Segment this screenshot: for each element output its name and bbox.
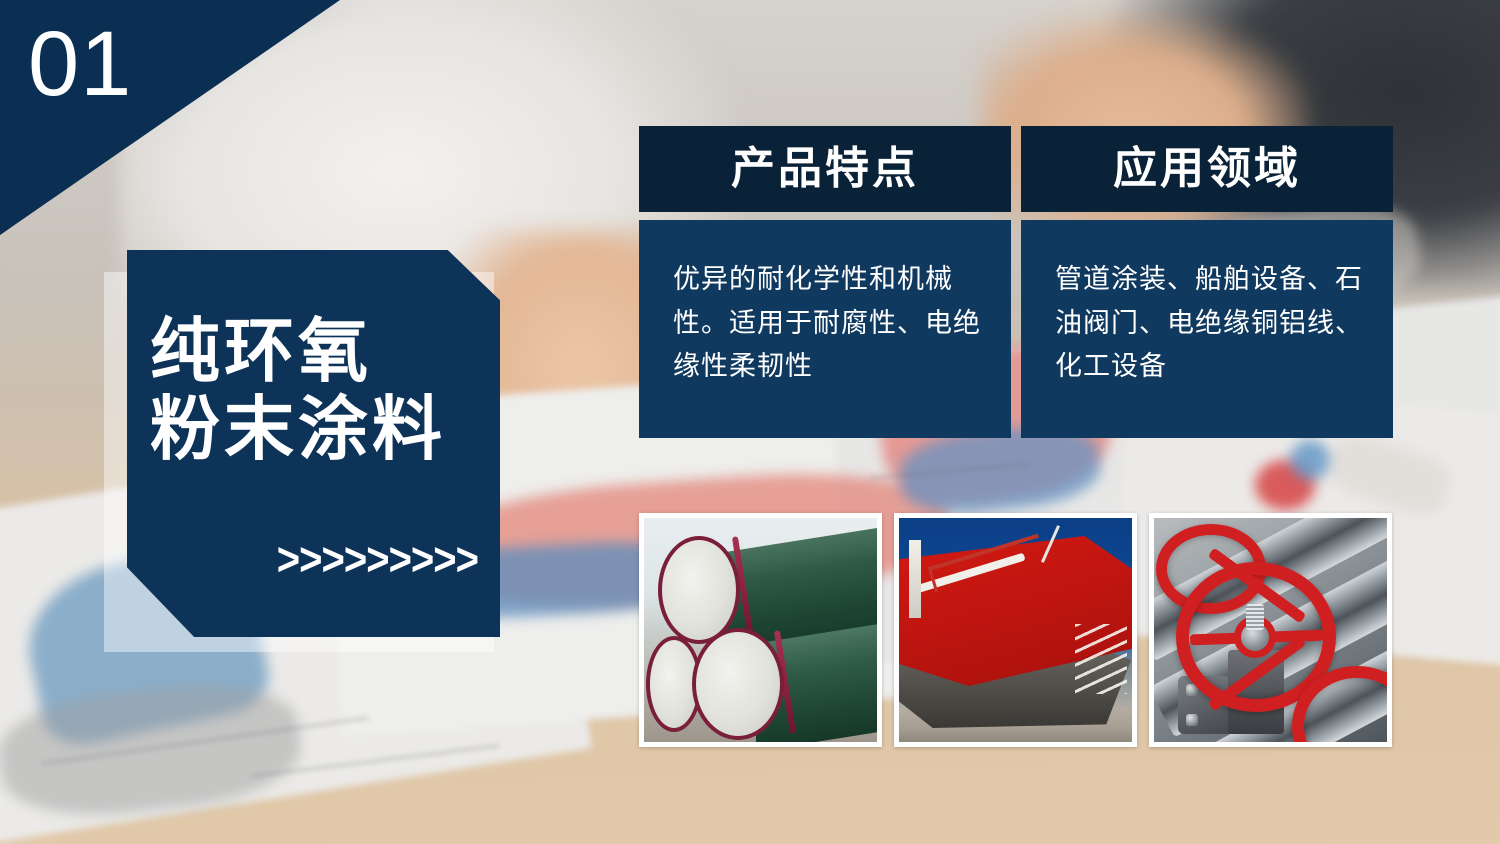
flange-bolt xyxy=(1186,714,1198,726)
panel-heading-text: 应用领域 xyxy=(1113,147,1301,191)
info-panel-group: 产品特点 优异的耐化学性和机械性。适用于耐腐性、电绝缘性柔韧性 应用领域 管道涂… xyxy=(639,126,1394,438)
pipe-end-face xyxy=(658,536,740,644)
pipe-end-face xyxy=(692,628,784,740)
photo-red-valve-wheels xyxy=(1154,518,1387,742)
chevron-arrows-icon: >>>>>>>>> xyxy=(277,537,478,583)
title-card: 纯环氧 粉末涂料 >>>>>>>>> xyxy=(127,250,500,637)
title-line-2: 粉末涂料 xyxy=(150,390,490,468)
gallery-photo-red-ship-hull xyxy=(894,513,1137,747)
panel-application-fields: 应用领域 管道涂装、船舶设备、石油阀门、电绝缘铜铝线、化工设备 xyxy=(1021,126,1393,438)
panel-header-product-features: 产品特点 xyxy=(639,126,1011,212)
ship-draft-marks xyxy=(1075,624,1127,694)
title-text-block: 纯环氧 粉末涂料 xyxy=(150,312,490,469)
section-number: 01 xyxy=(28,18,132,110)
gallery-photo-green-coated-pipes xyxy=(639,513,882,747)
ship-mast xyxy=(909,540,921,618)
panel-body-text: 优异的耐化学性和机械性。适用于耐腐性、电绝缘性柔韧性 xyxy=(673,258,981,389)
photo-red-ship-hull xyxy=(899,518,1132,742)
panel-product-features: 产品特点 优异的耐化学性和机械性。适用于耐腐性、电绝缘性柔韧性 xyxy=(639,126,1011,438)
panel-body-text: 管道涂装、船舶设备、石油阀门、电绝缘铜铝线、化工设备 xyxy=(1055,258,1363,389)
valve-stem xyxy=(1246,604,1264,630)
product-image-gallery xyxy=(639,513,1392,747)
panel-body-product-features: 优异的耐化学性和机械性。适用于耐腐性、电绝缘性柔韧性 xyxy=(639,220,1011,438)
panel-body-application-fields: 管道涂装、船舶设备、石油阀门、电绝缘铜铝线、化工设备 xyxy=(1021,220,1393,438)
panel-header-application-fields: 应用领域 xyxy=(1021,126,1393,212)
presentation-slide: 01 纯环氧 粉末涂料 >>>>>>>>> 产品特点 优异的耐化学性和机械性。适… xyxy=(0,0,1500,844)
panel-heading-text: 产品特点 xyxy=(731,147,919,191)
title-line-1: 纯环氧 xyxy=(150,312,490,390)
photo-green-coated-pipes xyxy=(644,518,877,742)
gallery-photo-red-valve-wheels xyxy=(1149,513,1392,747)
